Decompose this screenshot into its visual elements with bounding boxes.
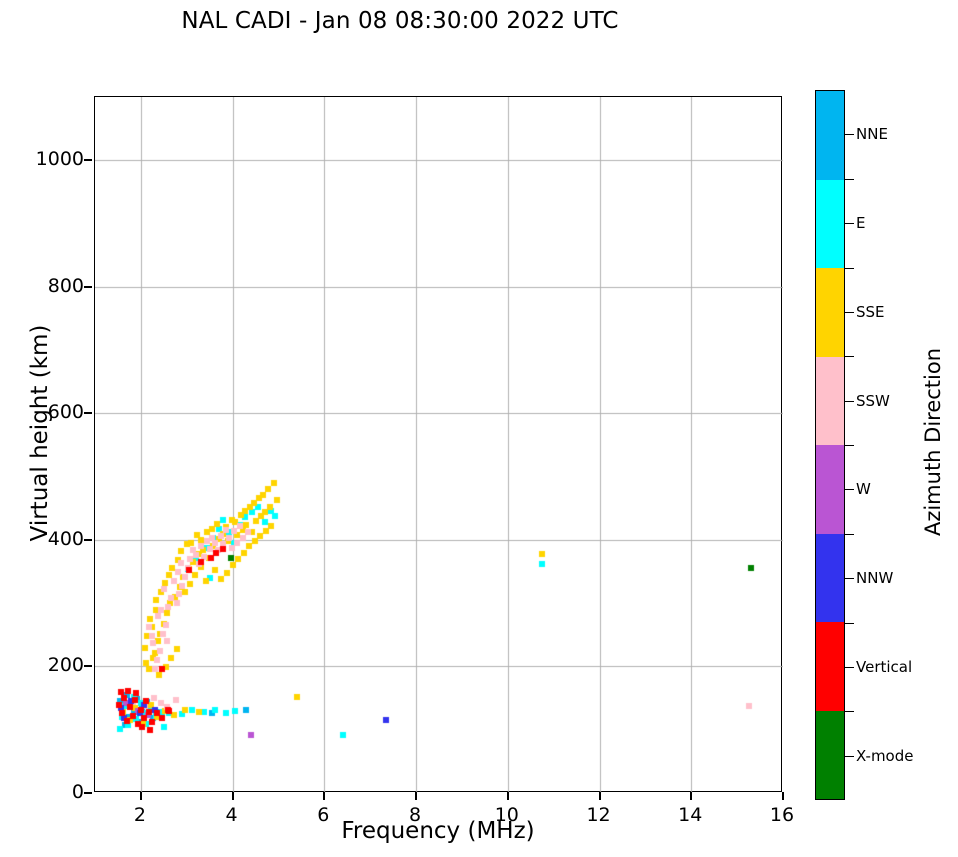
colorbar-segment-vertical[interactable] — [816, 622, 844, 711]
colorbar-tick — [845, 134, 854, 135]
colorbar-tick — [845, 578, 854, 579]
colorbar-segment-e[interactable] — [816, 180, 844, 269]
colorbar-boundary-tick — [845, 356, 854, 357]
colorbar-label-nne: NNE — [856, 127, 888, 142]
colorbar-segment-nnw[interactable] — [816, 534, 844, 623]
colorbar-label-x-mode: X-mode — [856, 749, 913, 764]
y-tick-label: 1000 — [26, 150, 84, 169]
colorbar-segment-w[interactable] — [816, 445, 844, 534]
colorbar-tick — [845, 401, 854, 402]
x-tick-mark — [507, 792, 509, 800]
colorbar-segment-ssw[interactable] — [816, 357, 844, 446]
colorbar-tick — [845, 756, 854, 757]
y-tick-mark — [84, 159, 92, 161]
colorbar-segment-nne[interactable] — [816, 91, 844, 180]
x-tick-mark — [599, 792, 601, 800]
scatter-data-layer — [95, 97, 783, 793]
colorbar[interactable] — [815, 90, 845, 800]
colorbar-label-sse: SSE — [856, 305, 885, 320]
x-axis-label: Frequency (MHz) — [94, 818, 782, 844]
figure-title: NAL CADI - Jan 08 08:30:00 2022 UTC — [0, 8, 800, 34]
x-tick-mark — [140, 792, 142, 800]
colorbar-boundary-tick — [845, 179, 854, 180]
y-tick-mark — [84, 412, 92, 414]
y-tick-mark — [84, 792, 92, 794]
colorbar-boundary-tick — [845, 623, 854, 624]
colorbar-label-nnw: NNW — [856, 571, 893, 586]
colorbar-title: Azimuth Direction — [921, 317, 945, 567]
y-tick-mark — [84, 539, 92, 541]
x-tick-mark — [323, 792, 325, 800]
colorbar-segment-x-mode[interactable] — [816, 711, 844, 800]
colorbar-label-ssw: SSW — [856, 394, 890, 409]
colorbar-boundary-tick — [845, 445, 854, 446]
colorbar-tick — [845, 312, 854, 313]
colorbar-segment-sse[interactable] — [816, 268, 844, 357]
y-tick-mark — [84, 665, 92, 667]
y-axis-label: Virtual height (km) — [27, 253, 53, 613]
colorbar-label-vertical: Vertical — [856, 660, 912, 675]
colorbar-label-e: E — [856, 216, 865, 231]
colorbar-tick — [845, 223, 854, 224]
colorbar-boundary-tick — [845, 268, 854, 269]
colorbar-boundary-tick — [845, 534, 854, 535]
x-tick-mark — [690, 792, 692, 800]
colorbar-boundary-tick — [845, 711, 854, 712]
x-tick-mark — [415, 792, 417, 800]
x-tick-mark — [782, 792, 784, 800]
ionogram-figure: NAL CADI - Jan 08 08:30:00 2022 UTC 0200… — [0, 0, 958, 857]
x-tick-mark — [232, 792, 234, 800]
colorbar-tick — [845, 489, 854, 490]
y-tick-label: 0 — [26, 783, 84, 802]
plot-area — [94, 96, 782, 792]
y-tick-mark — [84, 286, 92, 288]
y-tick-label: 200 — [26, 656, 84, 675]
colorbar-label-w: W — [856, 482, 871, 497]
colorbar-tick — [845, 667, 854, 668]
